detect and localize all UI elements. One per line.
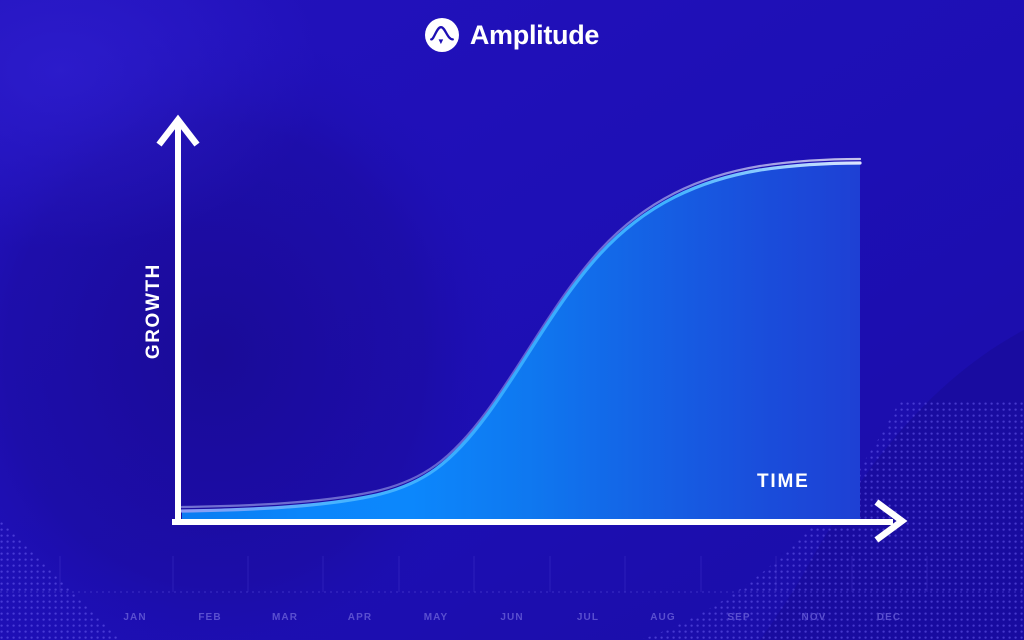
brand-name: Amplitude [470,22,599,49]
chart-canvas: Amplitude [0,0,1024,640]
month-label: APR [348,612,372,623]
month-label: NOV [802,612,827,623]
month-label: DEC [877,612,901,623]
month-label: JUN [500,612,523,623]
y-axis-label: GROWTH [143,263,165,453]
month-label: SEP [727,612,750,623]
amplitude-logo-icon [425,18,459,52]
month-label: AUG [650,612,676,623]
x-axis-label: TIME [757,471,810,493]
brand-lockup: Amplitude [0,18,1024,52]
month-label: MAR [272,612,298,623]
month-label: MAY [424,612,449,623]
growth-area-fill [182,163,860,519]
month-axis-labels: JANFEBMARAPRMAYJUNJULAUGSEPNOVDEC [0,612,1024,630]
month-label: FEB [198,612,221,623]
month-label: JAN [123,612,146,623]
month-label: JUL [577,612,599,623]
